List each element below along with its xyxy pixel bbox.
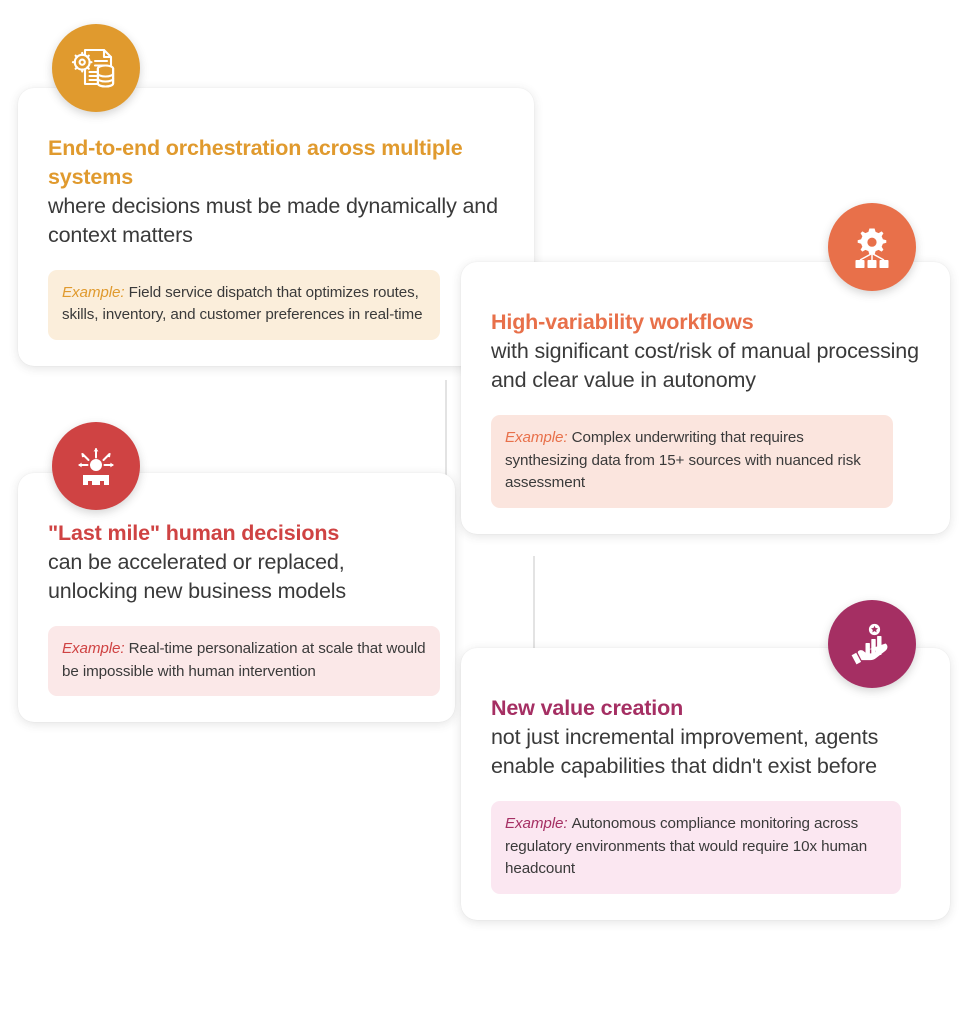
person-idea-rays-glyph xyxy=(71,441,121,491)
example-box: Example: Autonomous compliance monitorin… xyxy=(491,801,901,894)
card-new-value-creation[interactable]: New value creation not just incremental … xyxy=(461,648,950,920)
example-box: Example: Real-time personalization at sc… xyxy=(48,626,440,697)
document-gear-database-icon xyxy=(52,24,140,112)
person-idea-rays-icon xyxy=(52,422,140,510)
example-box: Example: Complex underwriting that requi… xyxy=(491,415,893,508)
card-body: not just incremental improvement, agents… xyxy=(491,723,920,782)
card-heading: New value creation xyxy=(491,694,920,723)
hand-growth-bars-star-glyph xyxy=(847,619,897,669)
infographic-canvas: End-to-end orchestration across multiple… xyxy=(0,0,971,1024)
card-heading: "Last mile" human decisions xyxy=(48,519,425,548)
document-gear-database-glyph xyxy=(71,43,121,93)
example-label: Example: xyxy=(62,640,129,657)
example-box: Example: Field service dispatch that opt… xyxy=(48,270,440,341)
card-heading: End-to-end orchestration across multiple… xyxy=(48,134,504,192)
card-body: where decisions must be made dynamically… xyxy=(48,192,504,251)
card-body: can be accelerated or replaced, unlockin… xyxy=(48,548,425,607)
gear-network-nodes-glyph xyxy=(847,222,897,272)
card-high-variability-workflows[interactable]: High-variability workflows with signific… xyxy=(461,262,950,534)
example-label: Example: xyxy=(62,284,129,301)
example-label: Example: xyxy=(505,429,572,446)
card-content: New value creation not just incremental … xyxy=(461,648,950,920)
card-body: with significant cost/risk of manual pro… xyxy=(491,337,920,396)
example-label: Example: xyxy=(505,815,572,832)
card-content: "Last mile" human decisions can be accel… xyxy=(18,473,455,722)
card-end-to-end-orchestration[interactable]: End-to-end orchestration across multiple… xyxy=(18,88,534,366)
card-content: End-to-end orchestration across multiple… xyxy=(18,88,534,366)
card-last-mile-human-decisions[interactable]: "Last mile" human decisions can be accel… xyxy=(18,473,455,722)
card-content: High-variability workflows with signific… xyxy=(461,262,950,534)
gear-network-nodes-icon xyxy=(828,203,916,291)
hand-growth-bars-star-icon xyxy=(828,600,916,688)
card-heading: High-variability workflows xyxy=(491,308,920,337)
